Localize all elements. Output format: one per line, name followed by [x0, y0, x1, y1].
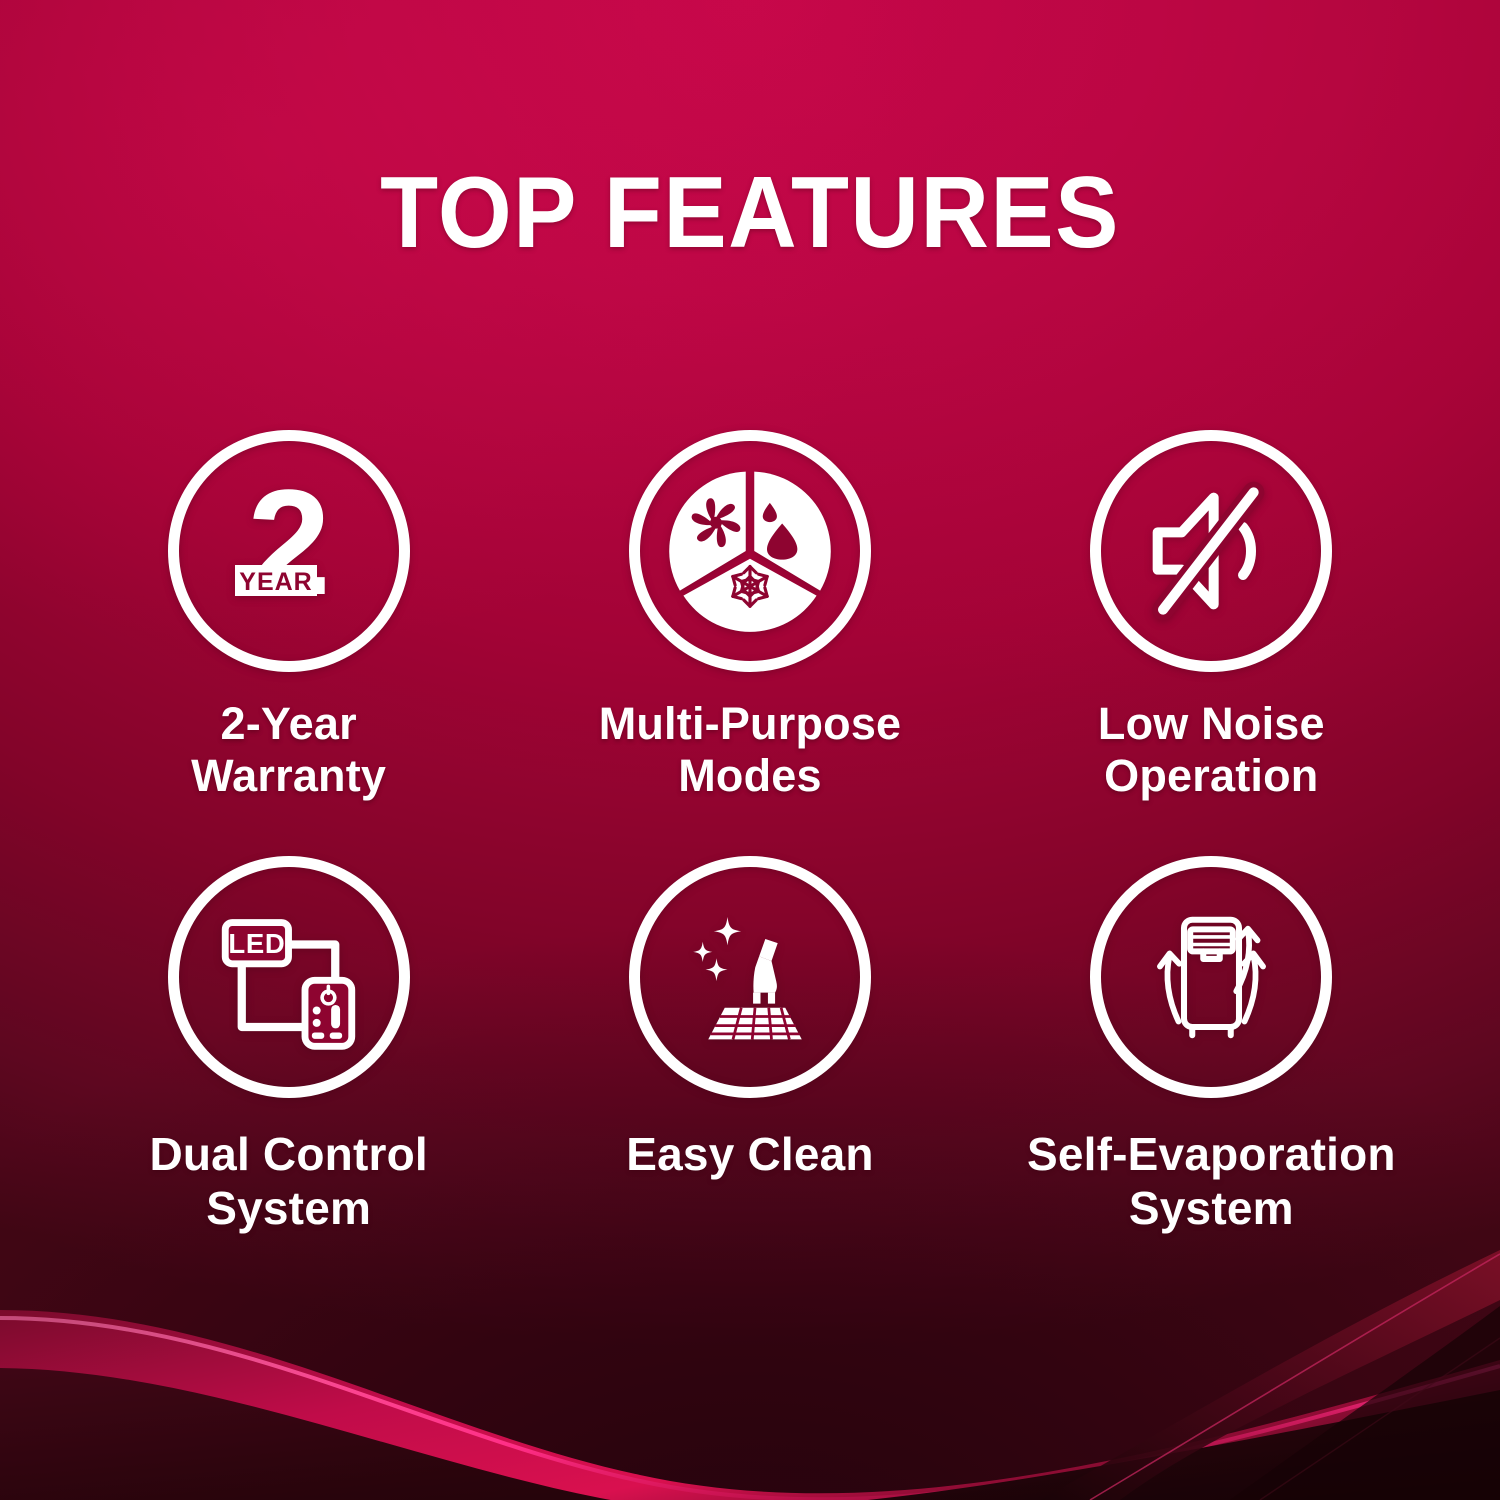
- svg-text:YEAR: YEAR: [239, 568, 312, 596]
- feature-item-easy-clean: Easy Clean: [519, 856, 980, 1235]
- feature-item-modes: Multi-Purpose Modes: [519, 430, 980, 802]
- feature-item-warranty: 2 YEAR 2-Year Warranty: [58, 430, 519, 802]
- feature-grid: 2 YEAR 2-Year Warranty: [58, 430, 1442, 1235]
- multi-mode-pie-icon: [629, 430, 871, 672]
- page-title: TOP FEATURES: [45, 163, 1455, 264]
- feature-label-warranty: 2-Year Warranty: [191, 698, 386, 802]
- broom-filter-icon: [629, 856, 871, 1098]
- sparkle-icons: [694, 917, 742, 981]
- portable-ac-airflow-icon: [1090, 856, 1332, 1098]
- feature-infographic: TOP FEATURES 2 YEAR 2-Year Warranty: [0, 0, 1500, 1500]
- broom-icon: [754, 939, 779, 1004]
- led-remote-control-icon: LED: [168, 856, 410, 1098]
- feature-label-easy-clean: Easy Clean: [626, 1128, 873, 1181]
- feature-label-dual-control: Dual Control System: [149, 1128, 427, 1235]
- svg-text:2: 2: [247, 458, 330, 626]
- feature-label-self-evaporation: Self-Evaporation System: [1027, 1128, 1396, 1235]
- feature-item-low-noise: Low Noise Operation: [981, 430, 1442, 802]
- svg-text:LED: LED: [229, 928, 286, 959]
- feature-label-modes: Multi-Purpose Modes: [599, 698, 902, 802]
- muted-speaker-icon: [1090, 430, 1332, 672]
- two-year-badge-icon: 2 YEAR: [168, 430, 410, 672]
- feature-item-dual-control: LED Dual Control System: [58, 856, 519, 1235]
- feature-item-self-evaporation: Self-Evaporation System: [981, 856, 1442, 1235]
- airflow-arrows: [1160, 929, 1263, 1022]
- feature-label-low-noise: Low Noise Operation: [1098, 698, 1325, 802]
- bottom-wave-decoration: [0, 1240, 1500, 1500]
